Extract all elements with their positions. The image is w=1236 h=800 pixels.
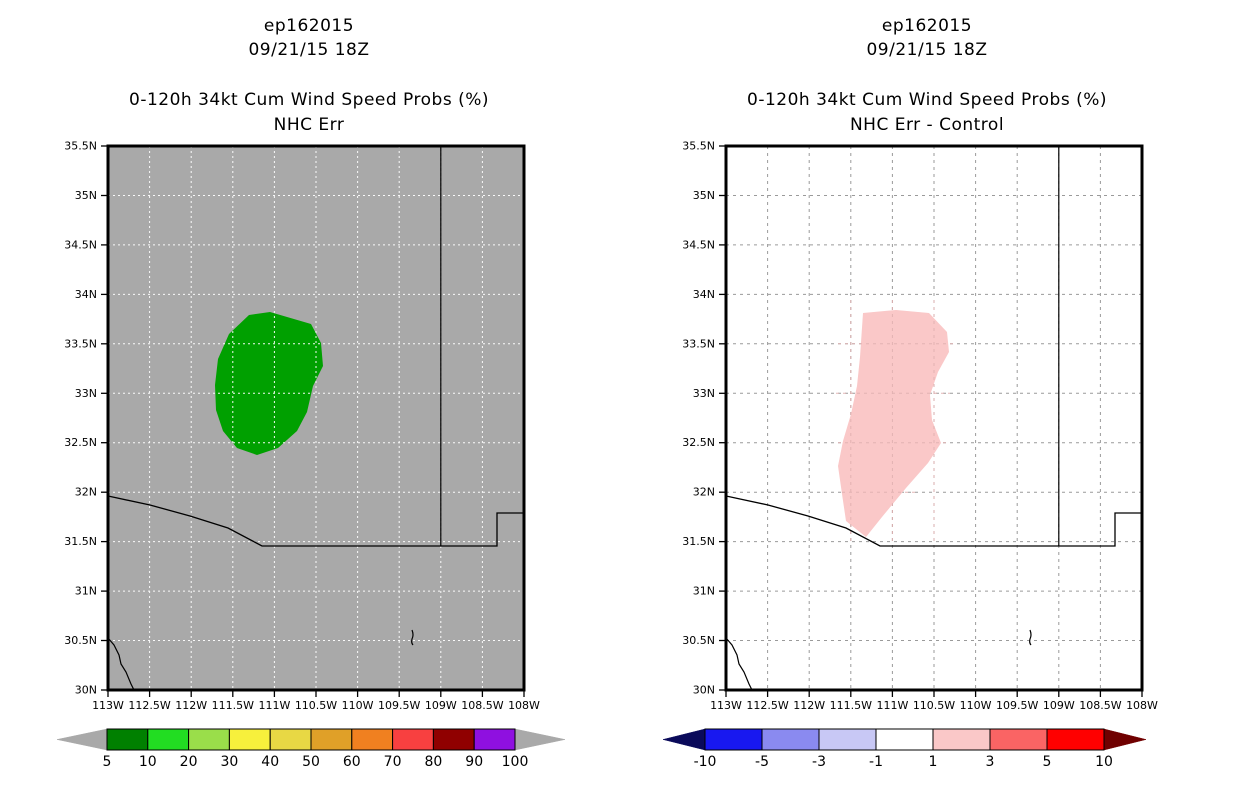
ytick-label: 35N bbox=[693, 189, 715, 202]
xtick-label: 109W bbox=[1043, 699, 1075, 712]
xtick-label: 108.5W bbox=[461, 699, 503, 712]
colorbar-tick: 50 bbox=[302, 754, 320, 770]
xtick-label: 111.5W bbox=[830, 699, 872, 712]
xtick-label: 111.5W bbox=[212, 699, 254, 712]
panel-nhc-err: ep162015 09/21/15 18Z 0-120h 34kt Cum Wi… bbox=[0, 0, 618, 800]
xtick-label: 110W bbox=[960, 699, 992, 712]
xtick-label: 112.5W bbox=[128, 699, 170, 712]
xtick-label: 112.5W bbox=[746, 699, 788, 712]
colorbar-tick: -1 bbox=[869, 754, 883, 770]
map-left-xaxis: 113W 112.5W 112W 111.5W 111W 110.5W 110W… bbox=[92, 690, 540, 712]
xtick-label: 113W bbox=[710, 699, 742, 712]
map-left-svg: 30N 30.5N 31N 31.5N 32N 32.5N 33N 33.5N … bbox=[0, 0, 618, 800]
ytick-label: 32.5N bbox=[64, 436, 97, 449]
map-right-xaxis: 113W 112.5W 112W 111.5W 111W 110.5W 110W… bbox=[710, 690, 1158, 712]
colorbar-swatches bbox=[107, 729, 515, 750]
xtick-label: 108W bbox=[508, 699, 540, 712]
colorbar-swatches bbox=[705, 729, 1104, 750]
colorbar-tick: 30 bbox=[220, 754, 238, 770]
colorbar-tick: 3 bbox=[986, 754, 995, 770]
colorbar-tick: -10 bbox=[694, 754, 717, 770]
xtick-label: 108W bbox=[1126, 699, 1158, 712]
ytick-label: 31.5N bbox=[682, 535, 715, 548]
xtick-label: 109W bbox=[425, 699, 457, 712]
ytick-label: 31.5N bbox=[64, 535, 97, 548]
xtick-label: 113W bbox=[92, 699, 124, 712]
colorbar-tick: 1 bbox=[929, 754, 938, 770]
ytick-label: 30.5N bbox=[64, 634, 97, 647]
ytick-label: 32N bbox=[693, 486, 715, 499]
xtick-label: 109.5W bbox=[378, 699, 420, 712]
ytick-label: 34N bbox=[75, 288, 97, 301]
colorbar-tick: 80 bbox=[424, 754, 442, 770]
xtick-label: 109.5W bbox=[996, 699, 1038, 712]
ytick-label: 30N bbox=[693, 684, 715, 697]
colorbar-tick: 70 bbox=[384, 754, 402, 770]
map-left: 30N 30.5N 31N 31.5N 32N 32.5N 33N 33.5N … bbox=[0, 0, 618, 800]
colorbar-right-arrow bbox=[1104, 729, 1146, 750]
ytick-label: 35.5N bbox=[64, 140, 97, 153]
xtick-label: 110W bbox=[342, 699, 374, 712]
colorbar-tick: 10 bbox=[139, 754, 157, 770]
ytick-label: 34.5N bbox=[682, 238, 715, 251]
xtick-label: 112W bbox=[793, 699, 825, 712]
colorbar-tick: 40 bbox=[261, 754, 279, 770]
xtick-label: 111W bbox=[876, 699, 908, 712]
ytick-label: 31N bbox=[75, 585, 97, 598]
colorbar-left-arrow bbox=[57, 729, 107, 750]
ytick-label: 31N bbox=[693, 585, 715, 598]
ytick-label: 33.5N bbox=[64, 337, 97, 350]
ytick-label: 35N bbox=[75, 189, 97, 202]
colorbar-tick: 20 bbox=[180, 754, 198, 770]
colorbar-tick-labels: 5 10 20 30 40 50 60 70 80 90 100 bbox=[103, 754, 529, 770]
ytick-label: 34N bbox=[693, 288, 715, 301]
xtick-label: 110.5W bbox=[913, 699, 955, 712]
colorbar-tick: 60 bbox=[343, 754, 361, 770]
ytick-label: 32.5N bbox=[682, 436, 715, 449]
xtick-label: 112W bbox=[175, 699, 207, 712]
colorbar-right-arrow bbox=[515, 729, 565, 750]
ytick-label: 34.5N bbox=[64, 238, 97, 251]
ytick-label: 33.5N bbox=[682, 337, 715, 350]
ytick-label: 33N bbox=[693, 387, 715, 400]
ytick-label: 33N bbox=[75, 387, 97, 400]
panel-nhc-err-minus-control: ep162015 09/21/15 18Z 0-120h 34kt Cum Wi… bbox=[618, 0, 1236, 800]
colorbar-tick: -5 bbox=[755, 754, 769, 770]
map-right-svg: 30N 30.5N 31N 31.5N 32N 32.5N 33N 33.5N … bbox=[618, 0, 1236, 800]
ytick-label: 30.5N bbox=[682, 634, 715, 647]
xtick-label: 108.5W bbox=[1079, 699, 1121, 712]
colorbar-left-arrow bbox=[663, 729, 705, 750]
colorbar-tick: 5 bbox=[103, 754, 112, 770]
ytick-label: 32N bbox=[75, 486, 97, 499]
colorbar-tick: -3 bbox=[812, 754, 826, 770]
map-right: 30N 30.5N 31N 31.5N 32N 32.5N 33N 33.5N … bbox=[618, 0, 1236, 800]
ytick-label: 30N bbox=[75, 684, 97, 697]
colorbar-tick-labels: -10 -5 -3 -1 1 3 5 10 bbox=[694, 754, 1113, 770]
colorbar-tick: 90 bbox=[465, 754, 483, 770]
colorbar-probability: 5 10 20 30 40 50 60 70 80 90 100 bbox=[0, 712, 618, 772]
xtick-label: 110.5W bbox=[295, 699, 337, 712]
map-left-yaxis: 30N 30.5N 31N 31.5N 32N 32.5N 33N 33.5N … bbox=[64, 140, 108, 697]
colorbar-tick: 10 bbox=[1095, 754, 1113, 770]
map-right-yaxis: 30N 30.5N 31N 31.5N 32N 32.5N 33N 33.5N … bbox=[682, 140, 726, 697]
xtick-label: 111W bbox=[258, 699, 290, 712]
ytick-label: 35.5N bbox=[682, 140, 715, 153]
colorbar-probability-svg: 5 10 20 30 40 50 60 70 80 90 100 bbox=[0, 712, 618, 772]
colorbar-difference-svg: -10 -5 -3 -1 1 3 5 10 bbox=[618, 712, 1236, 772]
colorbar-tick: 5 bbox=[1043, 754, 1052, 770]
colorbar-difference: -10 -5 -3 -1 1 3 5 10 bbox=[618, 712, 1236, 772]
colorbar-tick: 100 bbox=[502, 754, 529, 770]
